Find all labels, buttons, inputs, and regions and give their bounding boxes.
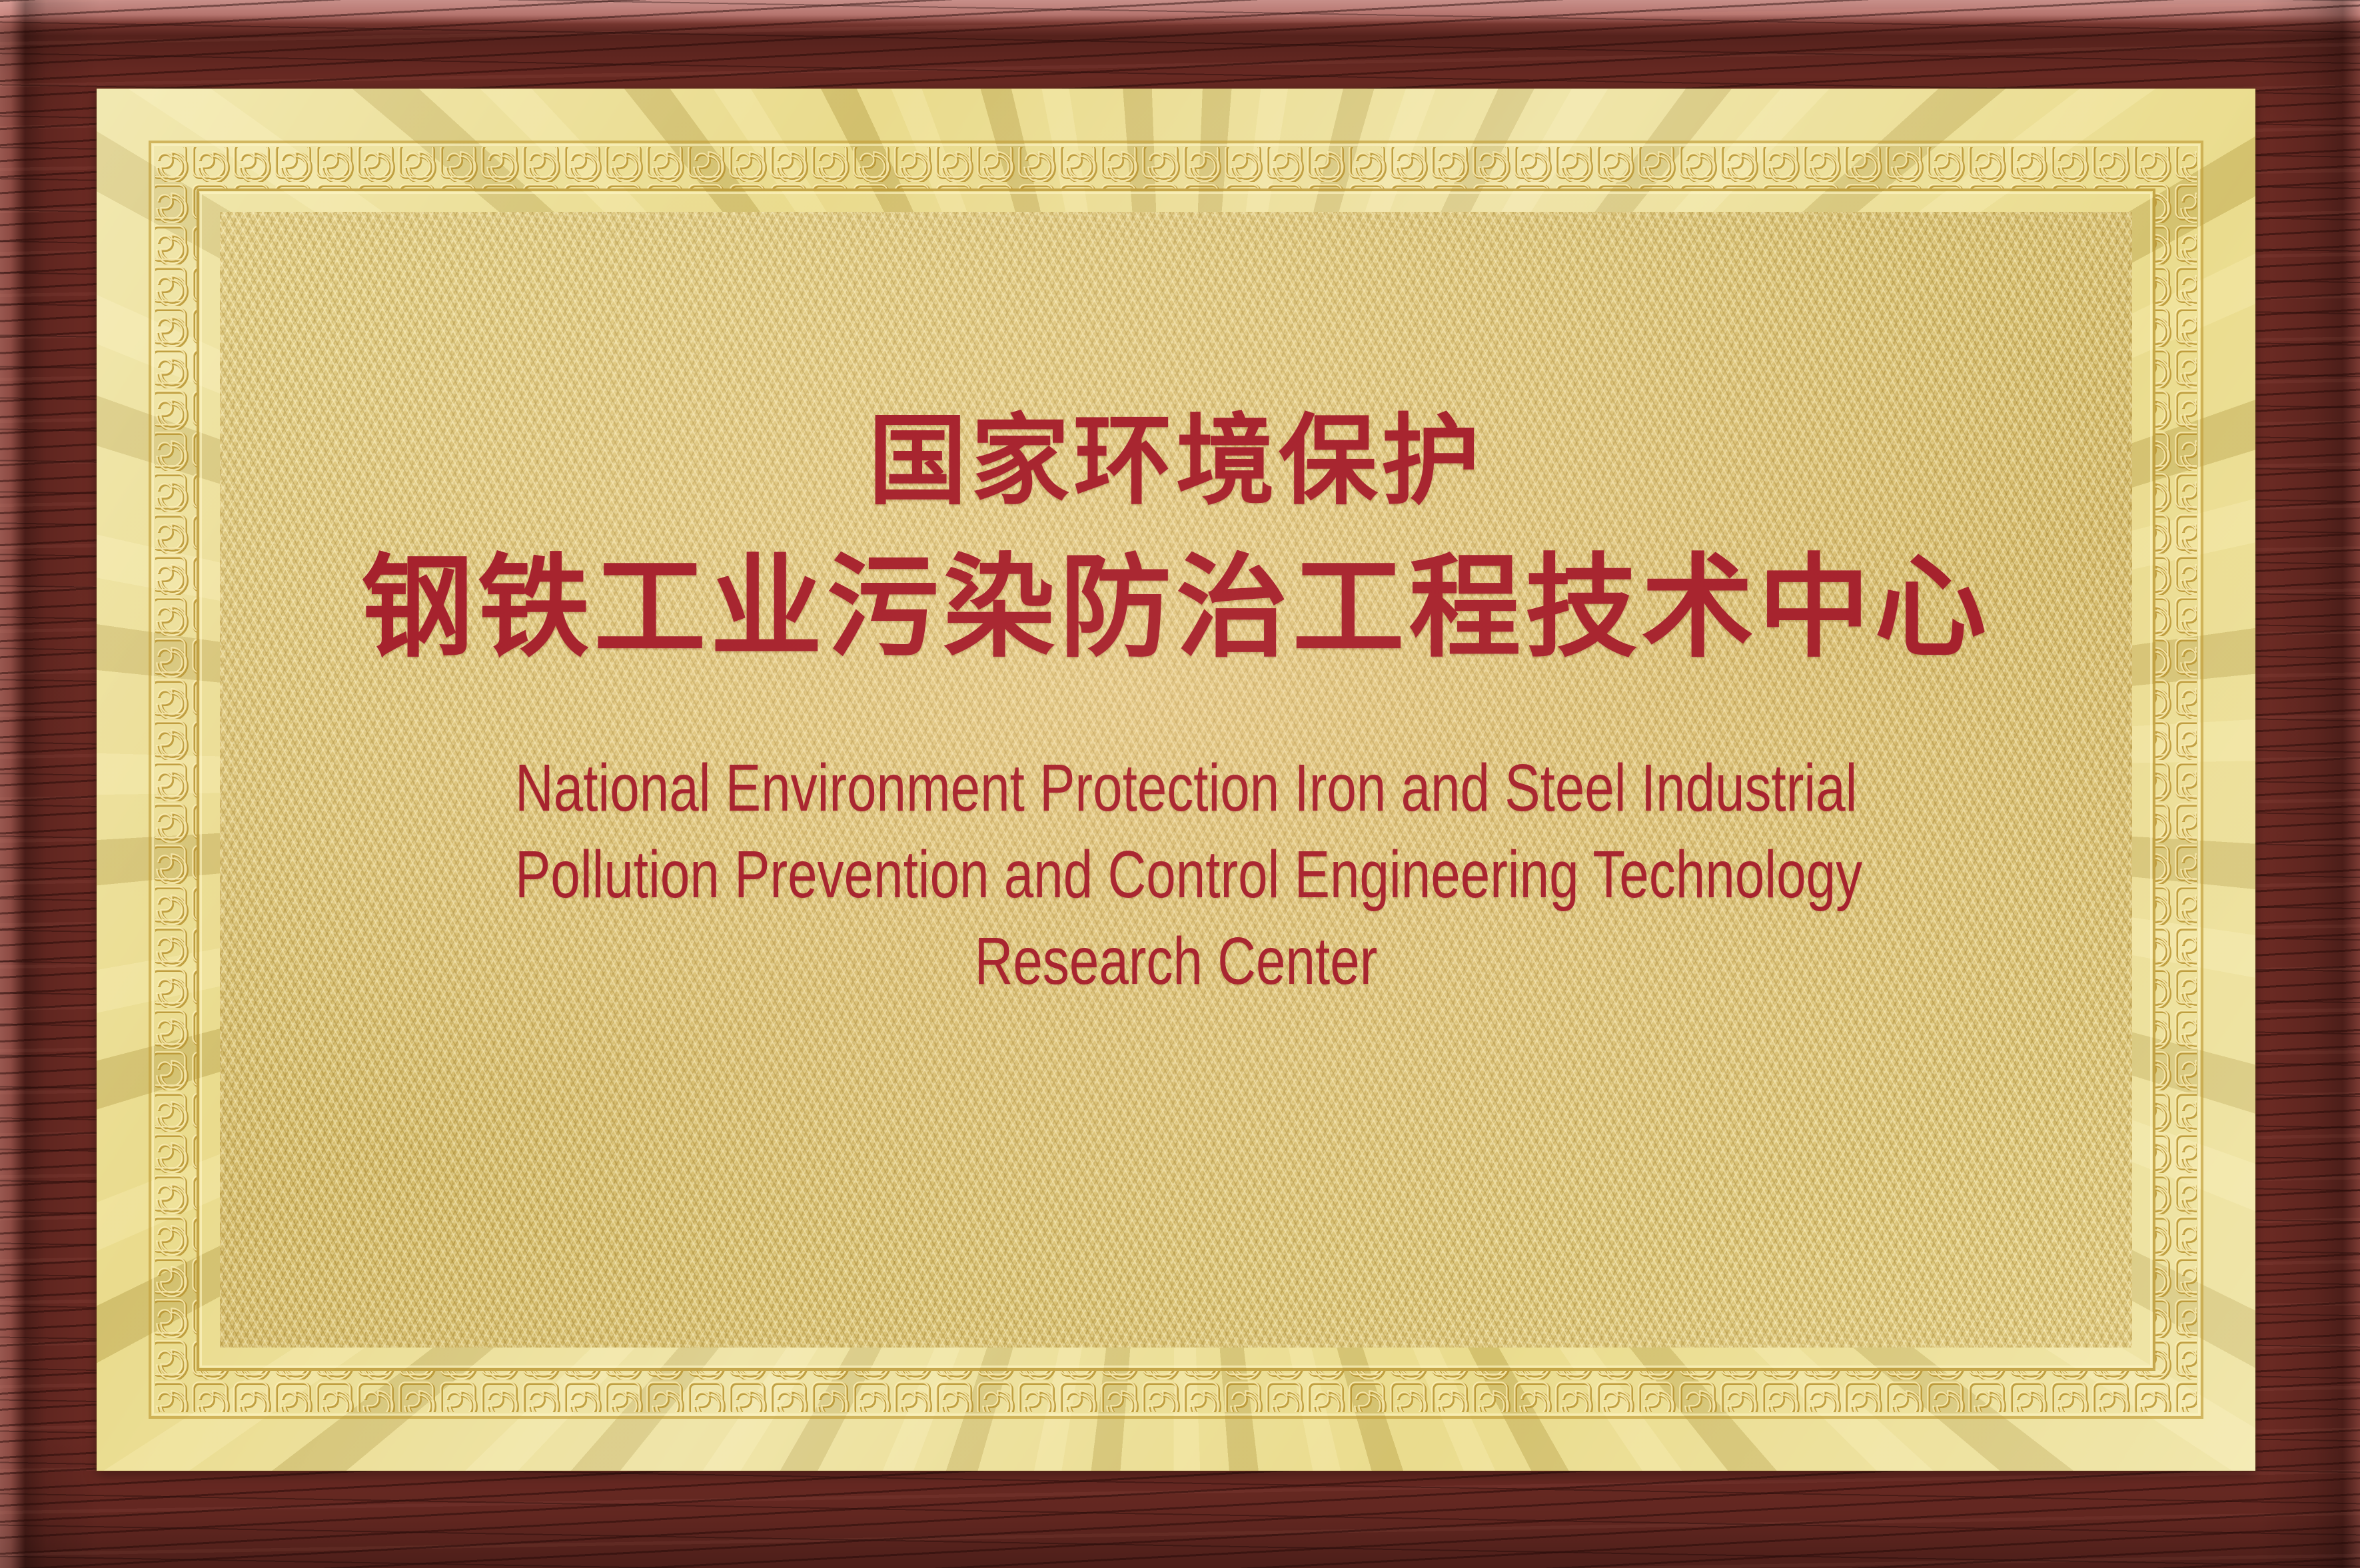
inscription-text-stack: 国家环境保护 钢铁工业污染防治工程技术中心 National Environme… bbox=[220, 212, 2132, 1348]
english-subtitle-line-3: Research Center bbox=[515, 918, 1837, 1004]
inscription-panel: 国家环境保护 钢铁工业污染防治工程技术中心 National Environme… bbox=[220, 212, 2132, 1348]
chinese-title-line-1: 国家环境保护 bbox=[868, 412, 1484, 510]
english-subtitle-line-2: Pollution Prevention and Control Enginee… bbox=[515, 831, 1837, 918]
gold-plate: 国家环境保护 钢铁工业污染防治工程技术中心 National Environme… bbox=[97, 89, 2255, 1471]
wooden-plaque-frame: 国家环境保护 钢铁工业污染防治工程技术中心 National Environme… bbox=[0, 0, 2360, 1568]
english-subtitle-block: National Environment Protection Iron and… bbox=[515, 745, 1837, 1004]
english-subtitle-line-1: National Environment Protection Iron and… bbox=[515, 745, 1837, 831]
chinese-title-line-2: 钢铁工业污染防治工程技术中心 bbox=[361, 552, 1991, 663]
